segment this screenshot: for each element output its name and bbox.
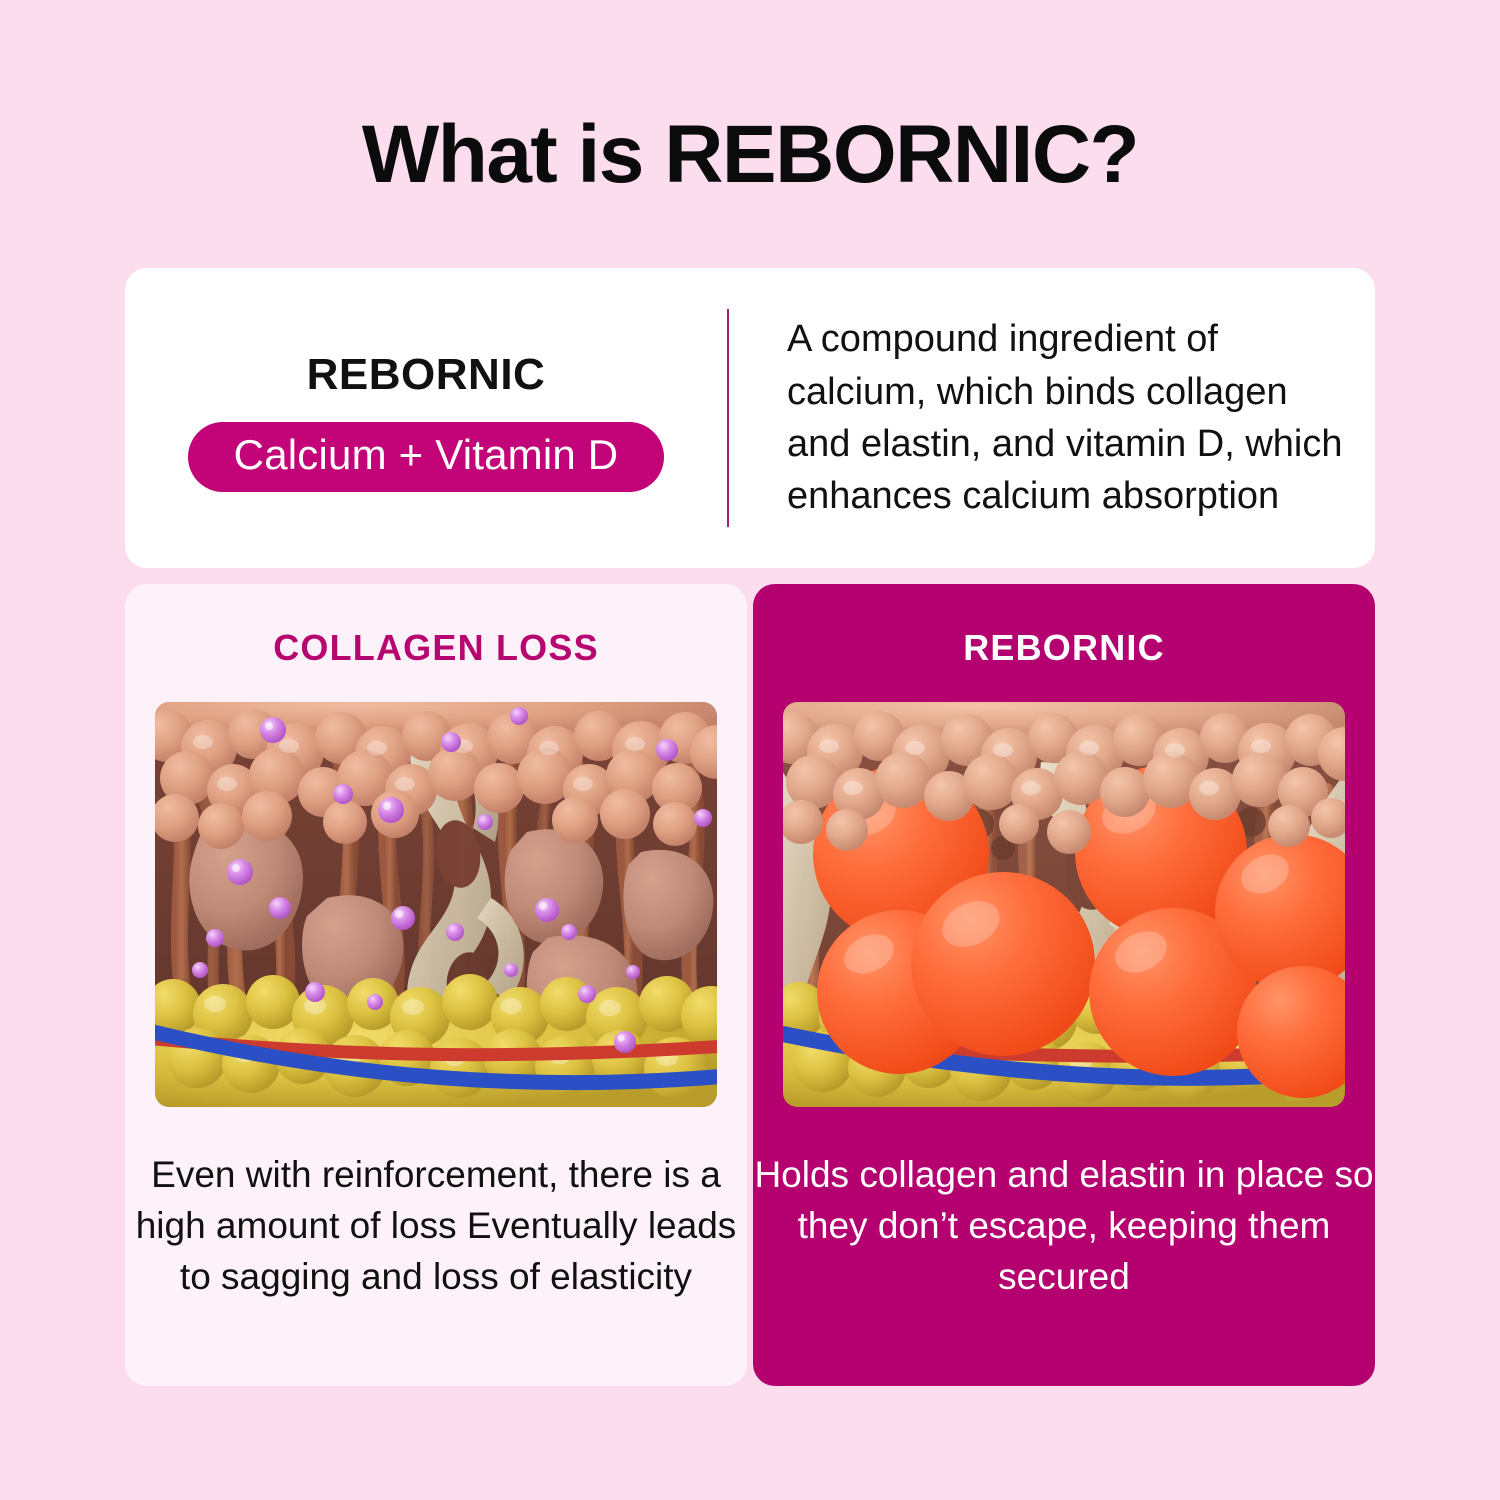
page-title: What is REBORNIC? xyxy=(0,108,1500,202)
rebornic-illustration xyxy=(783,702,1345,1107)
card-collagen-loss-title: COLLAGEN LOSS xyxy=(125,627,747,669)
card-collagen-loss: COLLAGEN LOSS xyxy=(125,584,747,1386)
info-card: REBORNIC Calcium + Vitamin D A compound … xyxy=(125,268,1375,568)
skin-cross-section-collagen-loss-svg xyxy=(155,702,717,1107)
info-description: A compound ingredient of calcium, which … xyxy=(787,313,1345,523)
card-rebornic: REBORNIC xyxy=(753,584,1375,1386)
card-rebornic-caption: Holds collagen and elastin in place so t… xyxy=(753,1149,1375,1302)
card-rebornic-title: REBORNIC xyxy=(753,627,1375,669)
card-collagen-loss-caption: Even with reinforcement, there is a high… xyxy=(125,1149,747,1302)
skin-cross-section-rebornic-svg xyxy=(783,702,1345,1107)
info-card-description-column: A compound ingredient of calcium, which … xyxy=(729,268,1375,568)
info-card-brand-column: REBORNIC Calcium + Vitamin D xyxy=(125,268,727,568)
ingredient-badge: Calcium + Vitamin D xyxy=(188,422,665,492)
comparison-row: COLLAGEN LOSS xyxy=(125,584,1375,1386)
brand-name: REBORNIC xyxy=(307,350,546,400)
infographic-page: What is REBORNIC? REBORNIC Calcium + Vit… xyxy=(0,0,1500,1500)
collagen-loss-illustration xyxy=(155,702,717,1107)
